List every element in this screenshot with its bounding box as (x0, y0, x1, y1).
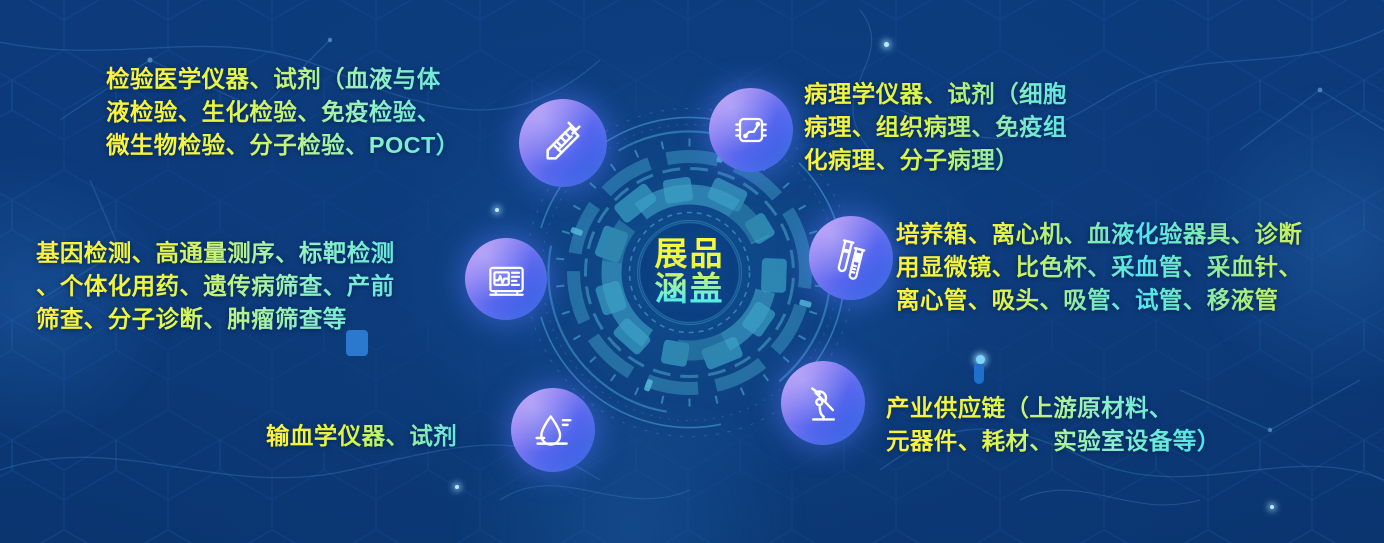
bubble-supply-chain[interactable] (781, 361, 865, 445)
biochip-icon (729, 108, 773, 152)
bubble-lab-medicine[interactable] (519, 99, 607, 187)
text-pathology: 病理学仪器、试剂（细胞 病理、组织病理、免疫组 化病理、分子病理） (804, 78, 1134, 177)
blood-drop-icon (531, 408, 576, 453)
bubble-lab-consumables[interactable] (809, 216, 893, 300)
sparkle-dot (974, 364, 984, 384)
text-transfusion: 输血学仪器、试剂 (266, 420, 516, 453)
sparkle-dot (976, 355, 985, 364)
text-lab-medicine: 检验医学仪器、试剂（血液与体 液检验、生化检验、免疫检验、 微生物检验、分子检验… (106, 63, 526, 162)
center-title-line2: 涵盖 (517, 272, 862, 307)
bubble-transfusion[interactable] (511, 388, 595, 472)
sparkle-dot (495, 208, 499, 212)
sparkle-dot (455, 485, 459, 489)
sparkle-dot (884, 42, 889, 47)
bubble-genetics[interactable] (465, 238, 547, 320)
test-tubes-icon (828, 235, 874, 281)
syringe-icon (540, 120, 586, 166)
text-genetics: 基因检测、高通量测序、标靶检测 、个体化用药、遗传病筛查、产前 筛查、分子诊断、… (36, 237, 466, 336)
text-lab-consumables: 培养箱、离心机、血液化验器具、诊断 用显微镜、比色杯、采血管、采血针、 离心管、… (896, 218, 1366, 317)
infographic-canvas: 展品 涵盖 (0, 0, 1384, 543)
text-supply-chain: 产业供应链（上游原材料、 元器件、耗材、实验室设备等） (886, 392, 1226, 458)
bubble-pathology[interactable] (709, 88, 793, 172)
sparkle-dot (1270, 505, 1274, 509)
analyzer-monitor-icon (485, 258, 528, 301)
microscope-icon (801, 381, 846, 426)
